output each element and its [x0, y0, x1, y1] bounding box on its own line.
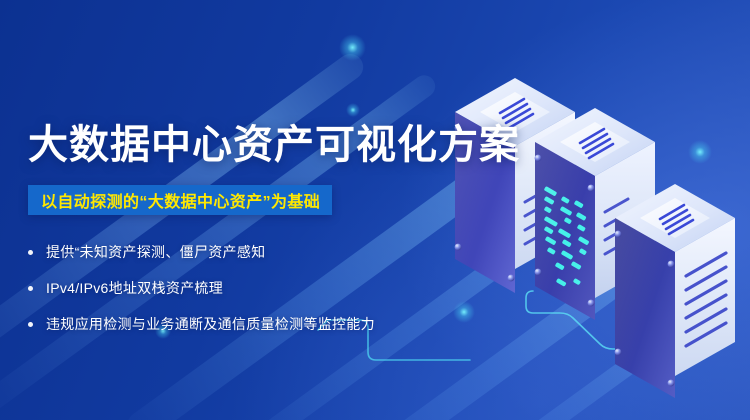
screw: [668, 380, 675, 387]
data-center-asset-visualization-banner: 大数据中心资产可视化方案 以自动探测的“大数据中心资产”为基础 提供“未知资产探…: [0, 0, 750, 420]
subtitle-banner-label: 以自动探测的“大数据中心资产”为基础: [41, 188, 320, 212]
bullet-dot-icon: [28, 286, 33, 291]
screw: [535, 269, 542, 276]
page-title: 大数据中心资产可视化方案: [28, 122, 520, 168]
list-item: 提供“未知资产探测、僵尸资产感知: [28, 238, 448, 266]
screw: [615, 231, 622, 238]
banner-text-content: 大数据中心资产可视化方案 以自动探测的“大数据中心资产”为基础 提供“未知资产探…: [0, 0, 470, 420]
list-item-label: 违规应用检测与业务通断及通信质量检测等监控能力: [46, 314, 375, 334]
server-rack-right: [615, 184, 735, 398]
screw: [588, 300, 595, 307]
screw: [588, 185, 595, 192]
bullet-dot-icon: [28, 322, 33, 327]
list-item: IPv4/IPv6地址双栈资产梳理: [28, 274, 448, 302]
feature-bullet-list: 提供“未知资产探测、僵尸资产感知 IPv4/IPv6地址双栈资产梳理 违规应用检…: [28, 238, 448, 346]
screw: [615, 349, 622, 356]
list-item: 违规应用检测与业务通断及通信质量检测等监控能力: [28, 310, 448, 338]
bullet-dot-icon: [28, 250, 33, 255]
list-item-label: 提供“未知资产探测、僵尸资产感知: [46, 242, 265, 262]
screw: [668, 261, 675, 268]
screw: [535, 155, 542, 162]
list-item-label: IPv4/IPv6地址双栈资产梳理: [46, 278, 223, 298]
screw: [508, 275, 515, 282]
subtitle-banner: 以自动探测的“大数据中心资产”为基础: [28, 185, 332, 215]
